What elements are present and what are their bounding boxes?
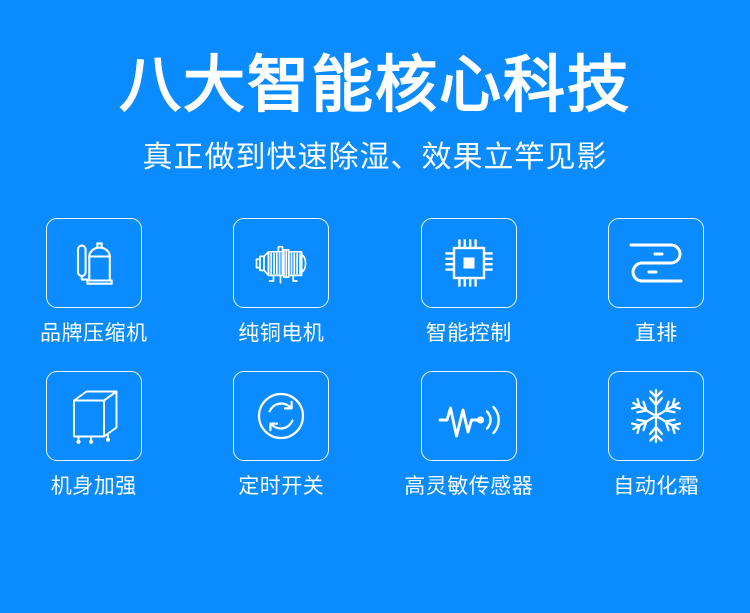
- feature-item-smart-control[interactable]: 智能控制: [375, 218, 563, 371]
- compressor-icon: [63, 232, 125, 294]
- icon-box-drain-hose: [608, 218, 704, 308]
- icon-box-compressor: [46, 218, 142, 308]
- feature-label: 自动化霜: [613, 476, 699, 497]
- feature-label: 机身加强: [51, 476, 137, 497]
- feature-label: 品牌压缩机: [40, 323, 148, 344]
- icon-box-chip: [421, 218, 517, 308]
- cabinet-icon: [65, 385, 123, 447]
- timer-cycle-icon: [252, 387, 310, 445]
- feature-grid: 品牌压缩机: [0, 218, 750, 524]
- drain-hose-icon: [625, 237, 687, 289]
- icon-box-snowflake: [608, 371, 704, 461]
- icon-box-timer-cycle: [233, 371, 329, 461]
- feature-label: 纯铜电机: [238, 323, 324, 344]
- feature-label: 智能控制: [426, 323, 512, 344]
- icon-box-sensor-wave: [421, 371, 517, 461]
- feature-label: 直排: [635, 323, 678, 344]
- feature-item-timer-switch[interactable]: 定时开关: [188, 371, 376, 524]
- page-title: 八大智能核心科技: [0, 52, 750, 120]
- feature-item-auto-defrost[interactable]: 自动化霜: [563, 371, 750, 524]
- feature-label: 高灵敏传感器: [404, 476, 533, 497]
- feature-item-direct-drain[interactable]: 直排: [563, 218, 750, 371]
- chip-icon: [440, 234, 498, 292]
- motor-icon: [250, 232, 312, 294]
- banner-header: 八大智能核心科技 真正做到快速除湿、效果立竿见影: [0, 0, 750, 176]
- feature-item-compressor[interactable]: 品牌压缩机: [0, 218, 188, 371]
- promo-banner: 八大智能核心科技 真正做到快速除湿、效果立竿见影: [0, 0, 750, 613]
- feature-item-sensor[interactable]: 高灵敏传感器: [375, 371, 563, 524]
- feature-item-motor[interactable]: 纯铜电机: [188, 218, 376, 371]
- feature-label: 定时开关: [238, 476, 324, 497]
- icon-box-motor: [233, 218, 329, 308]
- sensor-wave-icon: [436, 390, 502, 442]
- feature-item-reinforced-body[interactable]: 机身加强: [0, 371, 188, 524]
- snowflake-icon: [625, 385, 687, 447]
- page-subtitle: 真正做到快速除湿、效果立竿见影: [0, 140, 750, 176]
- icon-box-cabinet: [46, 371, 142, 461]
